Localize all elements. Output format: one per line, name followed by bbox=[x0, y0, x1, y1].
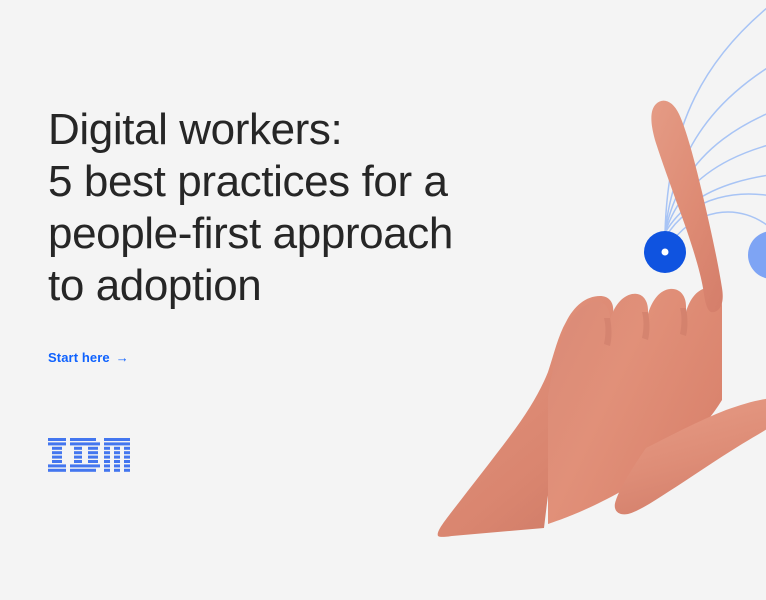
network-node-secondary bbox=[748, 231, 766, 279]
banner-content: Digital workers: 5 best practices for a … bbox=[48, 104, 568, 367]
start-here-link[interactable]: Start here → bbox=[48, 350, 129, 365]
connection-arcs bbox=[665, 0, 766, 248]
ibm-logo-icon bbox=[48, 438, 130, 472]
knuckle-creases bbox=[604, 308, 688, 346]
ibm-promo-banner: Digital workers: 5 best practices for a … bbox=[0, 0, 766, 600]
arrow-right-icon: → bbox=[116, 351, 129, 364]
network-node bbox=[644, 231, 686, 273]
start-here-label: Start here bbox=[48, 350, 110, 365]
ibm-logo[interactable] bbox=[48, 438, 130, 472]
page-title: Digital workers: 5 best practices for a … bbox=[48, 104, 568, 312]
network-node-center-dot bbox=[662, 249, 669, 256]
